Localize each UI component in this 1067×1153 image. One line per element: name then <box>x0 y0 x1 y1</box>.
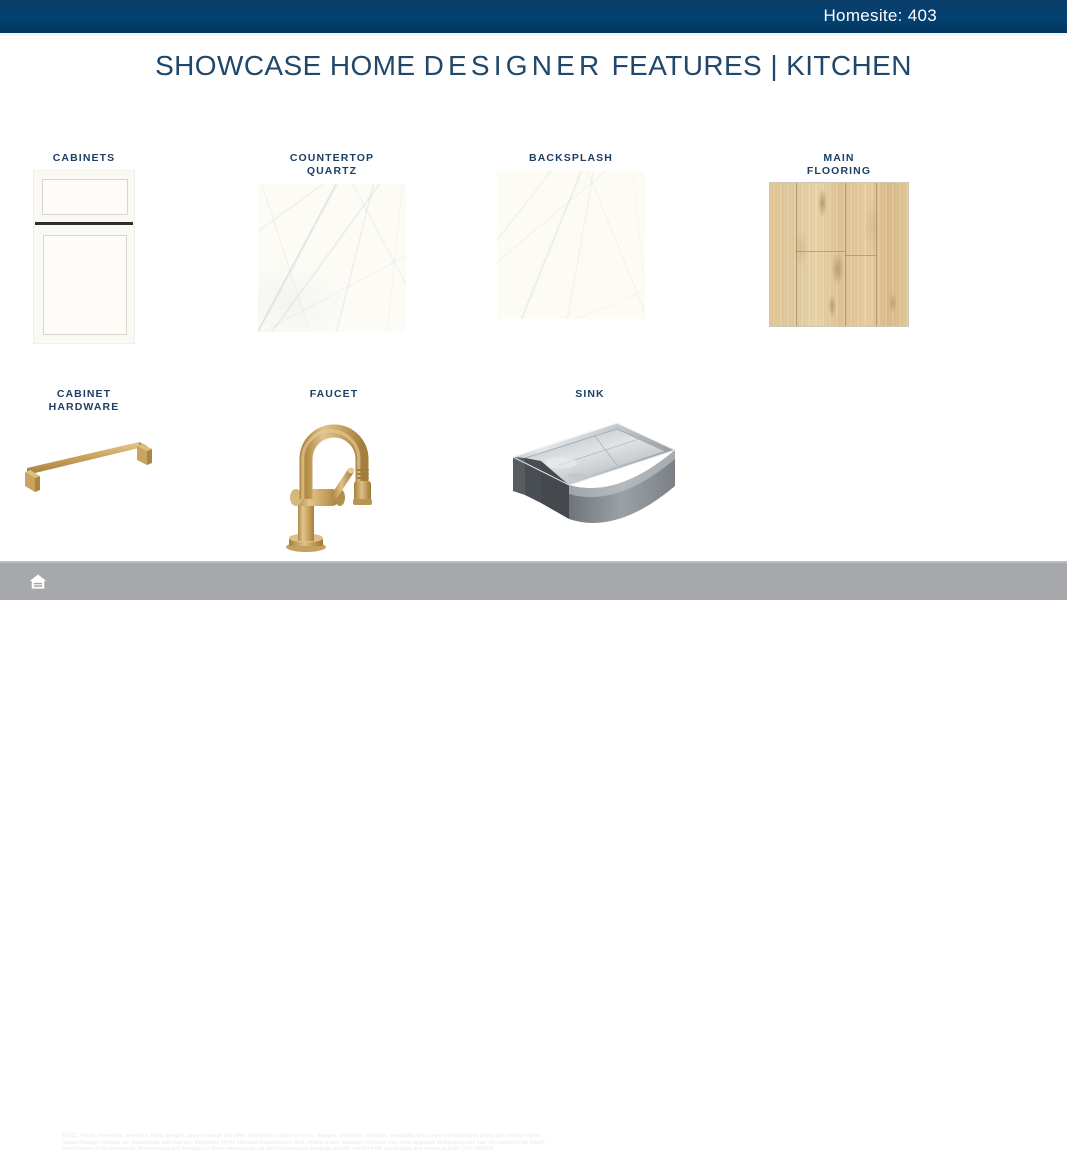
cabinet-divider-rail <box>35 222 133 225</box>
logo-light-text: HOMES <box>990 1134 1044 1151</box>
cabinet-swatch-image <box>34 171 134 343</box>
logo-registered-mark: ® <box>1044 1136 1049 1143</box>
feature-caption-sink: SINK <box>499 388 681 401</box>
feature-main-flooring: MAIN FLOORING <box>770 152 908 326</box>
swatch-backsplash <box>497 171 645 319</box>
plank-butt-joint <box>845 255 876 256</box>
footer-disclaimer: ©2022. Prices, homesites, amenities, hom… <box>62 1133 912 1153</box>
feature-caption-faucet: FAUCET <box>274 388 394 401</box>
swatch-cabinet-hardware <box>9 420 159 500</box>
swatch-sink <box>499 413 679 528</box>
quartz-swatch-image <box>258 184 406 332</box>
equal-housing-opportunity-icon <box>28 572 48 592</box>
feature-caption-backsplash: BACKSPLASH <box>497 152 645 165</box>
disclaimer-line-3: priced homes in the community. All rende… <box>62 1146 912 1153</box>
feature-backsplash: BACKSPLASH <box>497 152 645 319</box>
flooring-swatch-image <box>770 183 908 326</box>
header-underline <box>0 33 1067 36</box>
feature-caption-cabinet-hardware: CABINET HARDWARE <box>9 388 159 414</box>
swatch-countertop <box>258 184 406 332</box>
feature-caption-main-flooring: MAIN FLOORING <box>770 152 908 178</box>
page-title-part1: SHOWCASE HOME <box>155 50 424 81</box>
feature-caption-countertop: COUNTERTOP QUARTZ <box>258 152 406 178</box>
plank-seam <box>796 183 797 326</box>
page-title-part3: FEATURES | KITCHEN <box>603 50 911 81</box>
wood-grain-texture <box>770 183 908 326</box>
footer-bar: ©2022. Prices, homesites, amenities, hom… <box>0 563 1067 600</box>
page-title-part2: DESIGNER <box>424 50 604 81</box>
feature-faucet: FAUCET <box>274 388 394 557</box>
feature-countertop: COUNTERTOP QUARTZ <box>258 152 406 332</box>
page-title: SHOWCASE HOME DESIGNER FEATURES | KITCHE… <box>0 50 1067 82</box>
feature-cabinet-hardware: CABINET HARDWARE <box>9 388 159 500</box>
plank-butt-joint <box>796 251 845 252</box>
feature-cabinets: CABINETS <box>22 152 146 343</box>
disclaimer-line-1: ©2022. Prices, homesites, amenities, hom… <box>62 1133 912 1140</box>
kolter-homes-logo: KOLTERHOMES® <box>931 1134 1049 1151</box>
cabinet-pull-icon <box>9 420 159 500</box>
logo-bold-text: KOLTER <box>931 1134 990 1151</box>
faucet-icon <box>274 407 394 557</box>
plank-seam <box>876 183 877 326</box>
cabinet-drawer-front <box>42 179 128 215</box>
swatch-main-flooring <box>770 183 908 326</box>
backsplash-swatch-image <box>497 171 645 319</box>
homesite-label: Homesite: 403 <box>823 6 937 26</box>
disclaimer-line-2: Square footage numbers are approximate a… <box>62 1140 912 1147</box>
sink-icon <box>499 413 681 528</box>
feature-caption-cabinets: CABINETS <box>22 152 146 165</box>
header-bar: Homesite: 403 <box>0 0 1067 33</box>
feature-sink: SINK <box>499 388 681 528</box>
cabinet-door-front <box>43 235 127 335</box>
swatch-cabinets <box>34 171 134 343</box>
swatch-faucet <box>274 407 394 557</box>
